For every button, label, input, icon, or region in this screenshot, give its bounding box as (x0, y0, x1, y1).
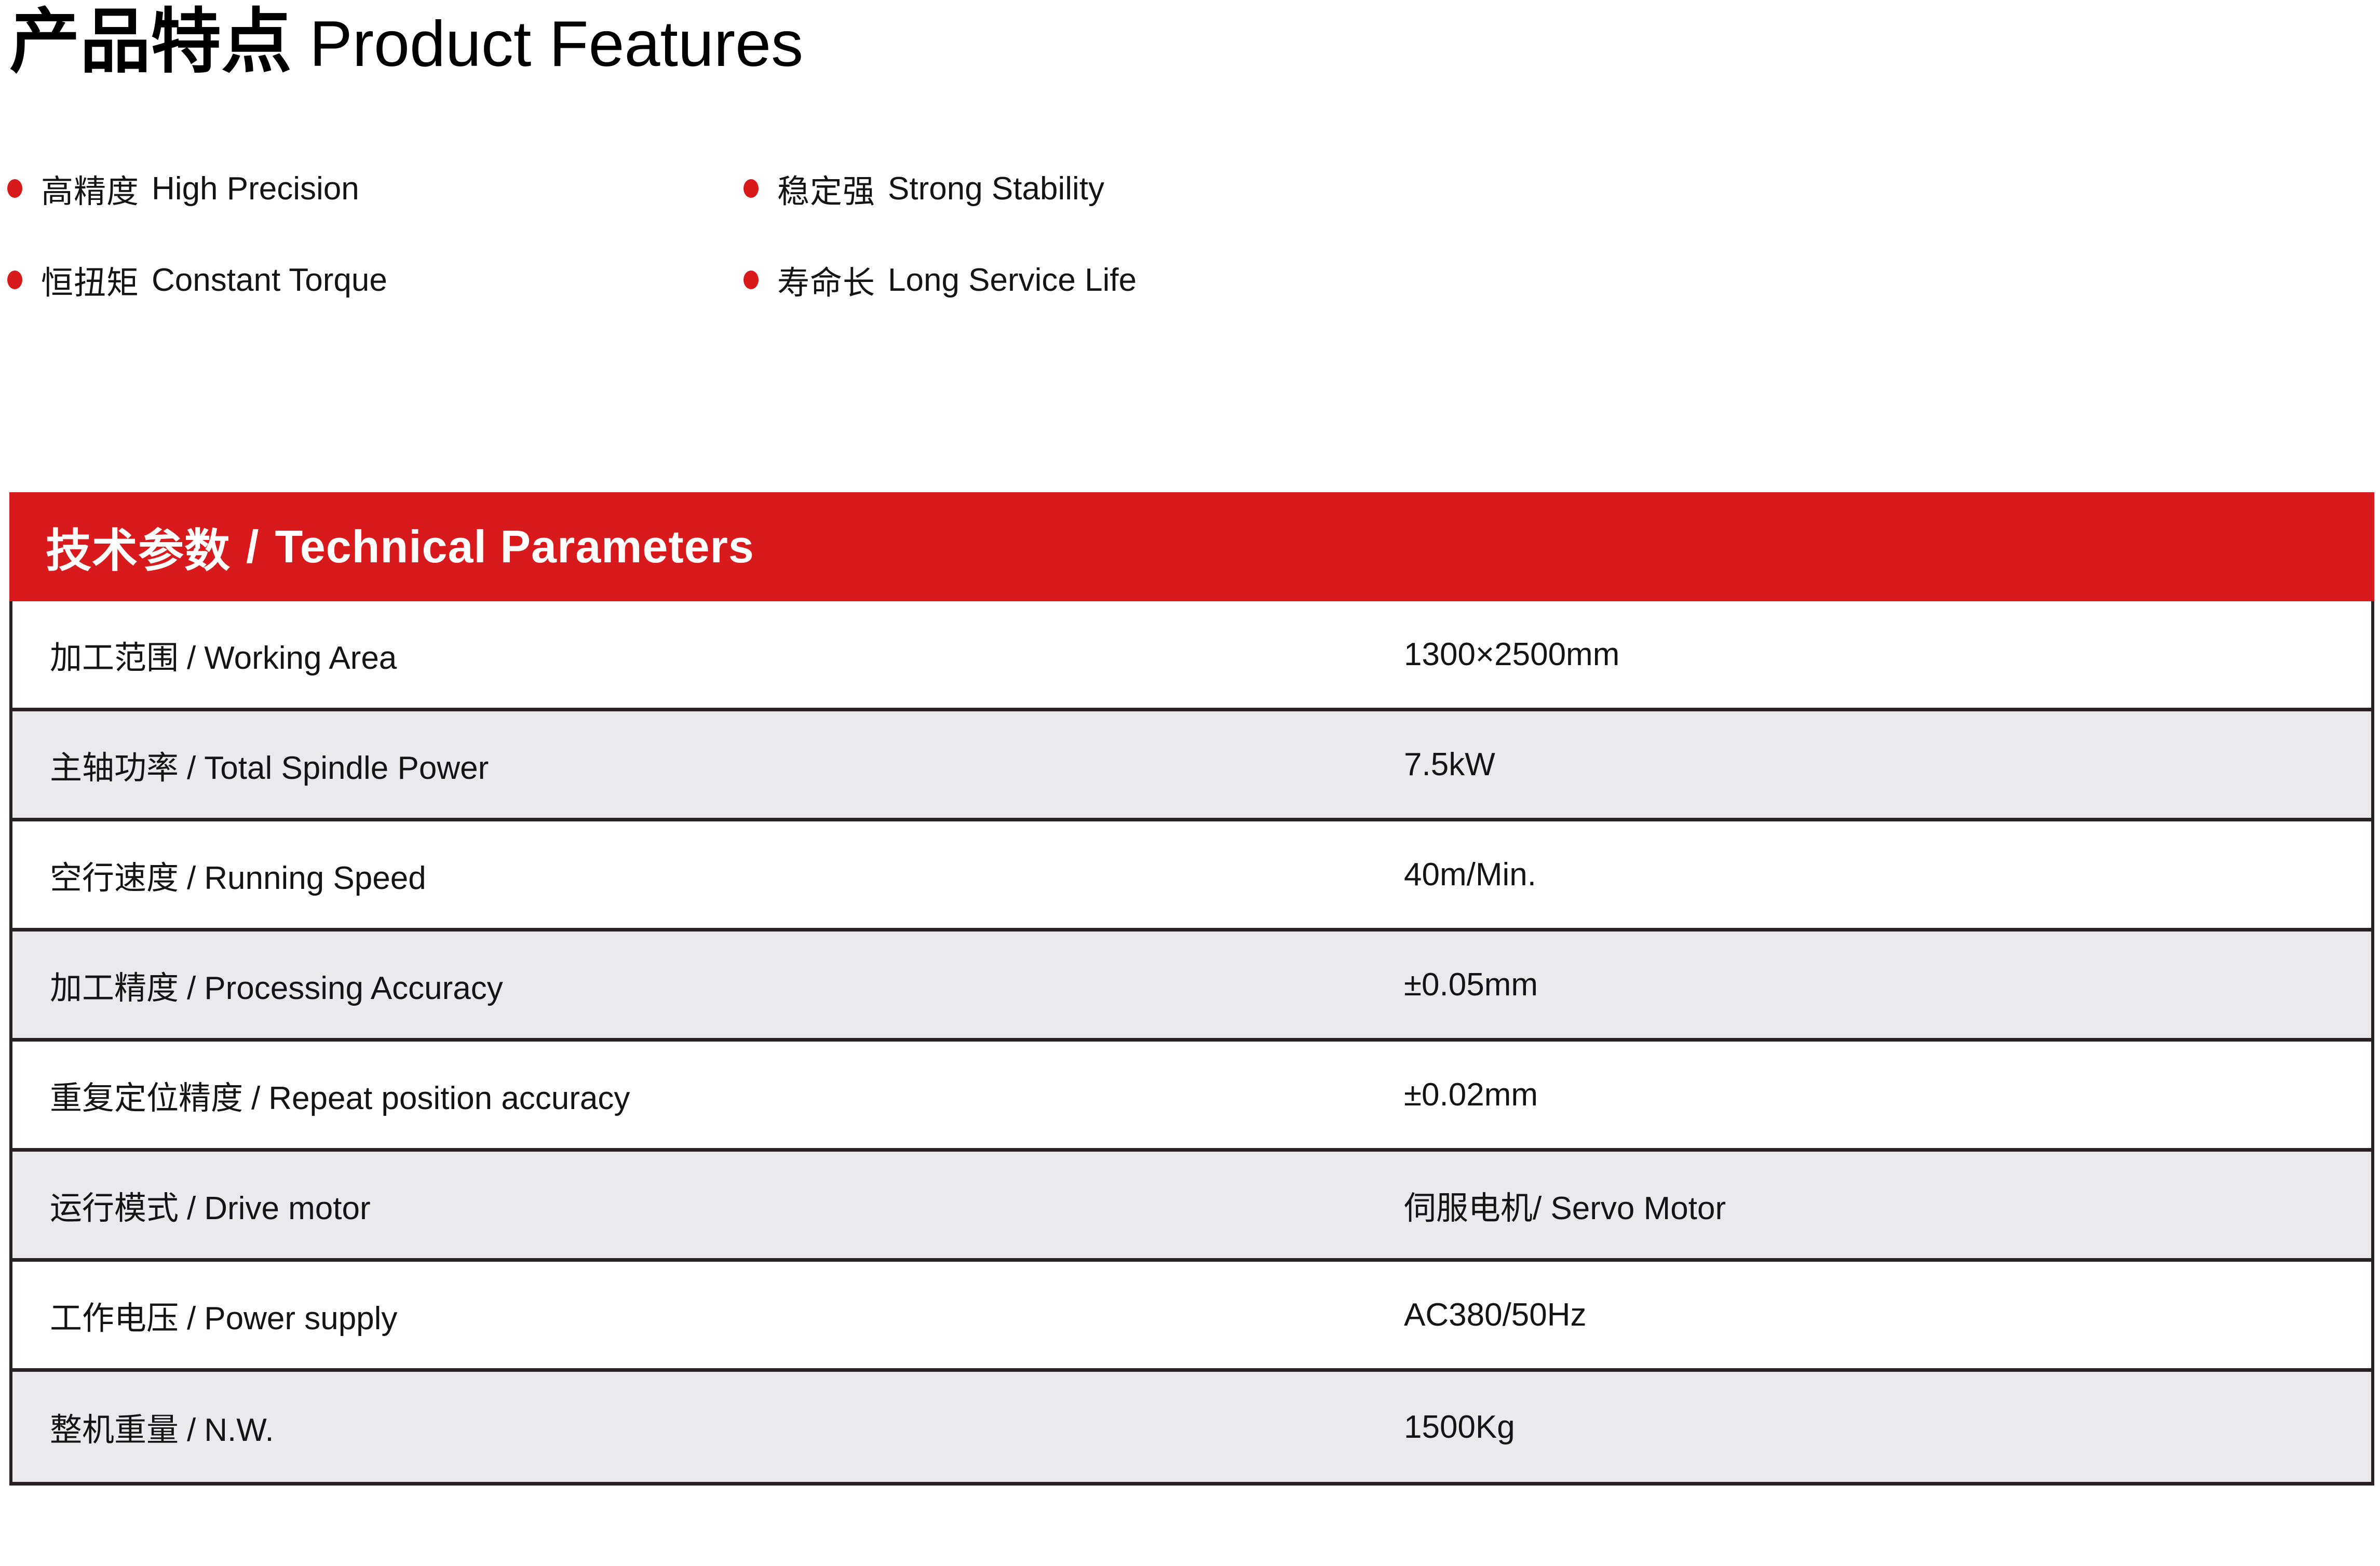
table-row: 空行速度/Running Speed 40m/Min. (12, 821, 2371, 932)
spec-label-en: Processing Accuracy (204, 970, 503, 1006)
table-row: 工作电压/Power supply AC380/50Hz (12, 1262, 2371, 1372)
red-dot-icon (7, 271, 22, 289)
feature-row: 恒扭矩 Constant Torque 寿命长 Long Service Lif… (0, 256, 2380, 348)
spec-value-cell: ±0.02mm (1404, 1076, 2371, 1113)
spec-label-cn: 空行速度 (50, 860, 179, 896)
feature-label-cn: 寿命长 (777, 256, 875, 303)
spec-value-cell: ±0.05mm (1404, 966, 2371, 1003)
spec-value-cell: 1300×2500mm (1404, 636, 2371, 673)
red-dot-icon (743, 271, 759, 289)
spec-label-cell: 重复定位精度/Repeat position accuracy (12, 1072, 1404, 1118)
feature-label-cn: 高精度 (41, 165, 139, 212)
spec-label-separator: / (179, 1412, 204, 1448)
spec-label-cn: 工作电压 (50, 1301, 179, 1336)
feature-item-constant-torque: 恒扭矩 Constant Torque (7, 256, 387, 303)
spec-label-cn: 运行模式 (50, 1191, 179, 1226)
spec-label-cn: 加工范围 (50, 640, 179, 676)
spec-label-cn: 整机重量 (50, 1412, 179, 1448)
spec-value-cell: 7.5kW (1404, 746, 2371, 783)
spec-label-cell: 加工精度/Processing Accuracy (12, 962, 1404, 1008)
spec-label-en: Drive motor (204, 1191, 370, 1226)
feature-label-en: High Precision (152, 170, 359, 207)
technical-parameters-header: 技术参数 / Technical Parameters (9, 492, 2374, 601)
table-row: 主轴功率/Total Spindle Power 7.5kW (12, 711, 2371, 821)
spec-value-cell: 1500Kg (1404, 1409, 2371, 1446)
spec-label-cn: 加工精度 (50, 970, 179, 1006)
feature-row: 高精度 High Precision 稳定强 Strong Stability (0, 165, 2380, 256)
red-dot-icon (743, 179, 759, 198)
spec-label-separator: / (179, 970, 204, 1006)
feature-label-cn: 稳定强 (777, 165, 875, 212)
spec-header-cn: 技术参数 (46, 514, 231, 580)
spec-label-en: Working Area (204, 640, 397, 676)
feature-item-strong-stability: 稳定强 Strong Stability (743, 165, 1104, 212)
feature-label-en: Constant Torque (152, 262, 387, 299)
spec-label-en: N.W. (204, 1412, 274, 1448)
feature-label-en: Strong Stability (888, 170, 1104, 207)
page-title: 产品特点 Product Features (9, 1, 803, 82)
spec-header-en: Technical Parameters (275, 520, 754, 573)
technical-parameters-body: 加工范围/Working Area 1300×2500mm 主轴功率/Total… (9, 601, 2374, 1486)
spec-label-cn: 重复定位精度 (50, 1081, 243, 1116)
spec-label-cell: 加工范围/Working Area (12, 631, 1404, 678)
spec-label-separator: / (179, 640, 204, 676)
spec-label-separator: / (243, 1081, 268, 1116)
feature-label-en: Long Service Life (888, 262, 1137, 299)
spec-label-cell: 空行速度/Running Speed (12, 852, 1404, 898)
spec-label-en: Repeat position accuracy (268, 1081, 630, 1116)
feature-item-high-precision: 高精度 High Precision (7, 165, 359, 212)
feature-item-long-service-life: 寿命长 Long Service Life (743, 256, 1137, 303)
spec-label-en: Total Spindle Power (204, 750, 489, 786)
spec-label-separator: / (179, 1191, 204, 1226)
table-row: 加工精度/Processing Accuracy ±0.05mm (12, 932, 2371, 1042)
table-row: 整机重量/N.W. 1500Kg (12, 1372, 2371, 1482)
spec-label-cell: 运行模式/Drive motor (12, 1182, 1404, 1228)
spec-value-cell: 40m/Min. (1404, 856, 2371, 893)
spec-value-cell: 伺服电机/ Servo Motor (1404, 1182, 2371, 1228)
spec-label-en: Running Speed (204, 860, 426, 896)
spec-label-cn: 主轴功率 (50, 750, 179, 786)
feature-label-cn: 恒扭矩 (41, 256, 139, 303)
technical-parameters-table: 技术参数 / Technical Parameters 加工范围/Working… (9, 492, 2374, 1486)
product-features-list: 高精度 High Precision 稳定强 Strong Stability … (0, 165, 2380, 348)
spec-header-separator: / (246, 520, 259, 573)
table-row: 重复定位精度/Repeat position accuracy ±0.02mm (12, 1042, 2371, 1152)
spec-label-cell: 工作电压/Power supply (12, 1292, 1404, 1339)
spec-label-separator: / (179, 1301, 204, 1336)
page-title-en: Product Features (309, 7, 803, 82)
spec-label-separator: / (179, 750, 204, 786)
table-row: 运行模式/Drive motor 伺服电机/ Servo Motor (12, 1152, 2371, 1262)
red-dot-icon (7, 179, 22, 198)
table-row: 加工范围/Working Area 1300×2500mm (12, 601, 2371, 711)
spec-label-cell: 整机重量/N.W. (12, 1403, 1404, 1450)
spec-label-separator: / (179, 860, 204, 896)
spec-label-en: Power supply (204, 1301, 397, 1336)
spec-label-cell: 主轴功率/Total Spindle Power (12, 741, 1404, 788)
page-title-cn: 产品特点 (9, 1, 292, 82)
spec-value-cell: AC380/50Hz (1404, 1297, 2371, 1333)
